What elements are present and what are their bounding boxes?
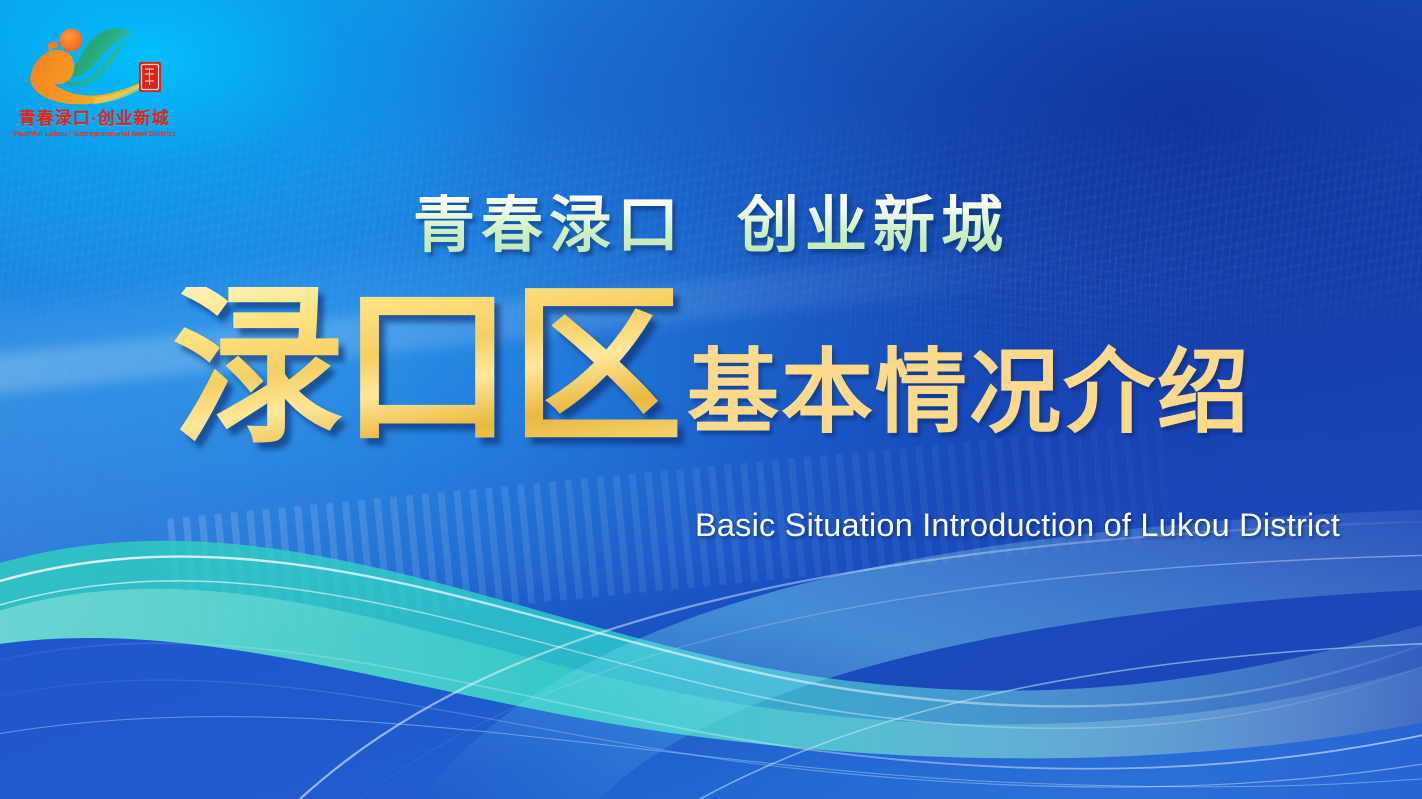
wave-line-8: [0, 717, 1422, 787]
slide-title-row: 渌口区 基本情况介绍 Basic Situation Introduction …: [0, 287, 1422, 445]
wave-line-6: [360, 555, 1422, 799]
lukou-logo-emblem: [8, 10, 178, 110]
kicker-part-2: 创业新城: [737, 188, 1009, 261]
wave-line-2: [0, 581, 1422, 729]
lukou-logo[interactable]: 青春渌口·创业新城 Youthful Lukou · Entrepreneuri…: [8, 10, 178, 138]
wave-cyan-glow: [420, 509, 1422, 799]
logo-english-tagline: Youthful Lukou · Entrepreneurial New Dis…: [10, 130, 177, 137]
wave-line-7: [700, 643, 1422, 799]
wave-line-1: [0, 557, 1422, 707]
slide-kicker: 青春渌口创业新城: [0, 194, 1422, 256]
wave-teal-band: [0, 541, 1422, 799]
page-title-main: 渌口区: [171, 287, 681, 445]
logo-sun-icon: [60, 29, 83, 52]
wave-line-3: [0, 643, 1422, 769]
kicker-part-1: 青春渌口: [413, 188, 685, 261]
logo-chinese-tagline: 青春渌口·创业新城: [18, 110, 170, 127]
page-title-english: Basic Situation Introduction of Lukou Di…: [695, 507, 1340, 544]
wave-line-4: [0, 680, 1422, 787]
presentation-title-slide: 青春渌口·创业新城 Youthful Lukou · Entrepreneuri…: [0, 0, 1422, 799]
wave-teal-band-2: [0, 589, 1422, 799]
page-title-sub: 基本情况介绍: [687, 347, 1251, 439]
wave-navy-band: [0, 638, 1422, 799]
logo-seal-stamp: [139, 62, 161, 92]
slide-title-sub-wrap: 基本情况介绍 Basic Situation Introduction of L…: [687, 347, 1251, 445]
wave-line-5: [300, 521, 1422, 799]
